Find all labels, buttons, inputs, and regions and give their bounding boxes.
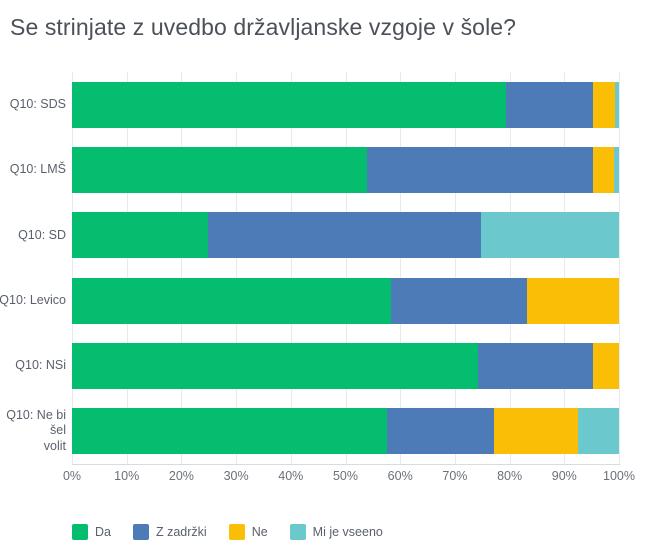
bar-segment-ne[interactable] (593, 147, 614, 193)
category-label: Q10: Levico (0, 293, 66, 309)
bar-row (72, 268, 619, 333)
category-label: Q10: Ne bi šel volit (0, 408, 66, 455)
category-label: Q10: LMŠ (10, 162, 66, 178)
chart-title: Se strinjate z uvedbo državljanske vzgoj… (10, 14, 516, 41)
bar-row (72, 72, 619, 137)
bar-segment-da[interactable] (72, 212, 208, 258)
bar-row (72, 137, 619, 202)
gridline (619, 72, 620, 464)
stacked-bar (72, 408, 619, 454)
category-label-cell: Q10: Levico (0, 268, 66, 333)
legend-item-mi-je-vseeno[interactable]: Mi je vseeno (290, 524, 383, 540)
bar-segment-da[interactable] (72, 408, 387, 454)
legend-swatch-icon (290, 524, 306, 540)
x-tick-label: 50% (333, 469, 358, 483)
bar-segment-ne[interactable] (527, 278, 619, 324)
category-label: Q10: NSi (15, 358, 66, 374)
category-axis-labels: Q10: SDSQ10: LMŠQ10: SDQ10: LevicoQ10: N… (0, 72, 66, 464)
category-label-cell: Q10: LMŠ (0, 137, 66, 202)
legend-item-z-zadržki[interactable]: Z zadržki (133, 524, 207, 540)
legend-item-ne[interactable]: Ne (229, 524, 268, 540)
bar-segment-mi-je-vseeno[interactable] (481, 212, 619, 258)
x-tick-label: 0% (63, 469, 81, 483)
bar-segment-z-zadržki[interactable] (506, 82, 593, 128)
legend-item-da[interactable]: Da (72, 524, 111, 540)
bar-segment-z-zadržki[interactable] (367, 147, 592, 193)
x-tick-label: 20% (169, 469, 194, 483)
legend-label: Z zadržki (156, 525, 207, 539)
bar-segment-da[interactable] (72, 278, 391, 324)
bar-segment-mi-je-vseeno[interactable] (614, 147, 619, 193)
bar-segment-ne[interactable] (593, 82, 615, 128)
stacked-bar (72, 278, 619, 324)
category-label: Q10: SD (18, 228, 66, 244)
bar-segment-ne[interactable] (593, 343, 619, 389)
category-label-cell: Q10: Ne bi šel volit (0, 399, 66, 464)
legend-swatch-icon (72, 524, 88, 540)
bar-segment-z-zadržki[interactable] (391, 278, 527, 324)
legend-label: Mi je vseeno (313, 525, 383, 539)
stacked-bar (72, 82, 619, 128)
legend-label: Ne (252, 525, 268, 539)
bar-segment-da[interactable] (72, 82, 506, 128)
legend-swatch-icon (133, 524, 149, 540)
x-tick-label: 40% (278, 469, 303, 483)
x-tick-label: 60% (388, 469, 413, 483)
bar-rows (72, 72, 619, 464)
bar-row (72, 333, 619, 398)
x-axis-line (72, 464, 620, 465)
x-axis-tick-labels: 0%10%20%30%40%50%60%70%80%90%100% (0, 469, 650, 489)
stacked-bar (72, 212, 619, 258)
bar-row (72, 203, 619, 268)
chart-legend: DaZ zadržkiNeMi je vseeno (72, 524, 383, 540)
legend-swatch-icon (229, 524, 245, 540)
x-tick-label: 100% (603, 469, 635, 483)
x-tick-label: 90% (552, 469, 577, 483)
bar-segment-da[interactable] (72, 343, 478, 389)
bar-segment-z-zadržki[interactable] (478, 343, 593, 389)
bar-row (72, 399, 619, 464)
plot-area: Q10: SDSQ10: LMŠQ10: SDQ10: LevicoQ10: N… (72, 72, 619, 464)
category-label-cell: Q10: SD (0, 203, 66, 268)
x-tick-label: 30% (224, 469, 249, 483)
bar-segment-ne[interactable] (494, 408, 578, 454)
x-tick-label: 70% (442, 469, 467, 483)
x-tick-label: 10% (114, 469, 139, 483)
stacked-bar (72, 147, 619, 193)
category-label-cell: Q10: NSi (0, 333, 66, 398)
stacked-bar-chart: Se strinjate z uvedbo državljanske vzgoj… (0, 0, 650, 552)
bar-segment-z-zadržki[interactable] (387, 408, 494, 454)
category-label: Q10: SDS (10, 97, 66, 113)
stacked-bar (72, 343, 619, 389)
bar-segment-da[interactable] (72, 147, 367, 193)
x-tick-label: 80% (497, 469, 522, 483)
legend-label: Da (95, 525, 111, 539)
category-label-cell: Q10: SDS (0, 72, 66, 137)
bar-segment-mi-je-vseeno[interactable] (615, 82, 619, 128)
bar-segment-mi-je-vseeno[interactable] (578, 408, 619, 454)
bar-segment-z-zadržki[interactable] (208, 212, 481, 258)
